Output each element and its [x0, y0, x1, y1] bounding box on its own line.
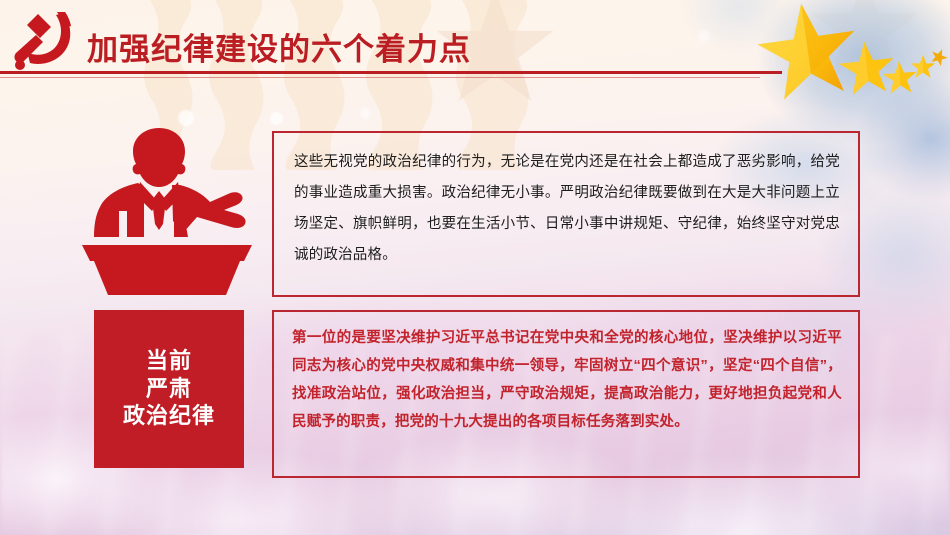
content-paragraph-key-point: 第一位的是要坚决维护习近平总书记在党中央和全党的核心地位，坚决维护以习近平同志为… [292, 324, 842, 436]
page-title: 加强纪律建设的六个着力点 [87, 24, 471, 69]
content-box-background: 这些无视党的政治纪律的行为，无论是在党内还是在社会上都造成了恶劣影响，给党的事业… [272, 131, 860, 297]
title-rule-thick [0, 71, 782, 74]
slide-canvas: 加强纪律建设的六个着力点 [0, 0, 950, 535]
content-paragraph-background: 这些无视党的政治纪律的行为，无论是在党内还是在社会上都造成了恶劣影响，给党的事业… [294, 147, 840, 271]
current-topic-label-box: 当前 严肃 政治纪律 [94, 310, 244, 468]
label-line-2: 严肃 [146, 377, 192, 402]
hammer-and-sickle-icon [8, 6, 82, 76]
decorative-dot [360, 108, 371, 119]
title-rule-thin [0, 77, 760, 78]
label-line-3: 政治纪律 [123, 404, 215, 429]
decorative-dot [178, 110, 194, 126]
content-box-key-point: 第一位的是要坚决维护习近平总书记在党中央和全党的核心地位，坚决维护以习近平同志为… [272, 310, 860, 478]
decorative-dot [698, 30, 710, 42]
label-line-1: 当前 [146, 349, 192, 374]
speaker-at-podium-icon [72, 127, 262, 295]
decorative-dot [270, 112, 283, 125]
